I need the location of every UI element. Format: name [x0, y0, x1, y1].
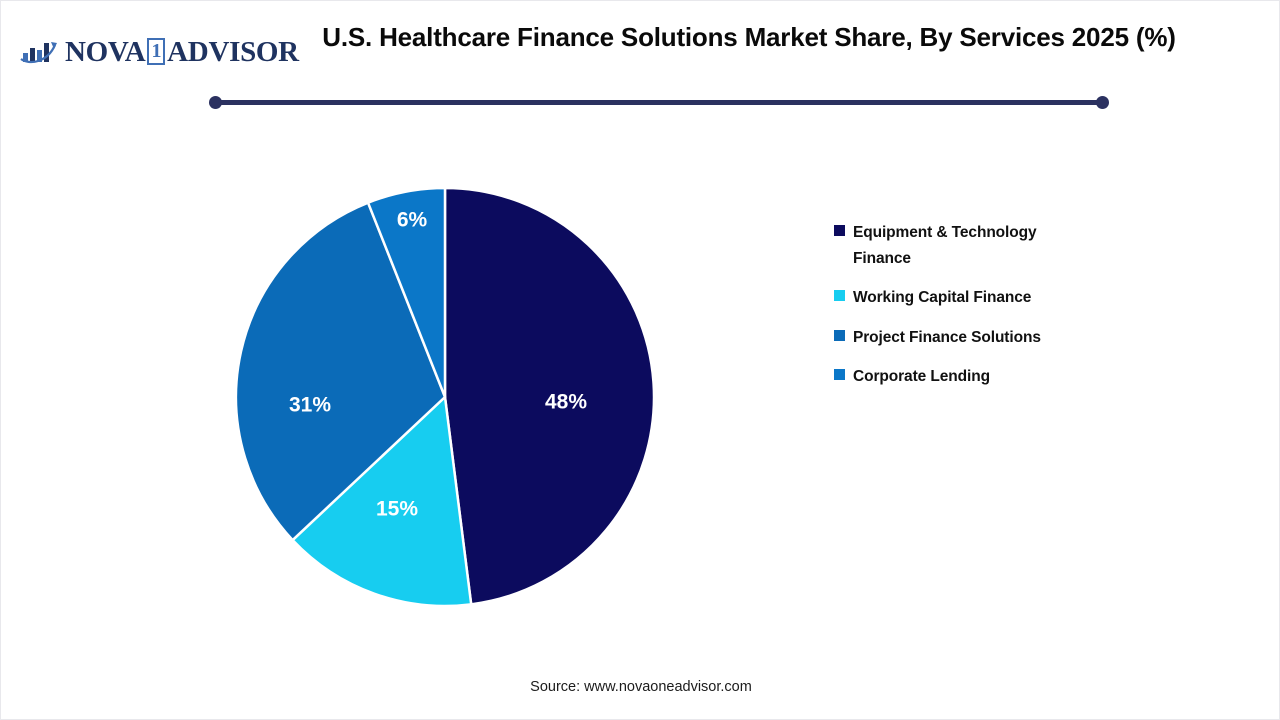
source-caption: Source: www.novaoneadvisor.com — [1, 679, 1280, 695]
chart-page: NOVA 1 ADVISOR U.S. Healthcare Finance S… — [0, 0, 1280, 720]
pie-chart-svg: 48%15%31%6% — [235, 187, 655, 607]
legend-item-label: Project Finance Solutions — [853, 325, 1041, 351]
logo-text-before: NOVA — [65, 36, 145, 69]
legend-swatch-icon — [834, 369, 845, 380]
chart-legend: Equipment & Technology Finance Working C… — [834, 220, 1094, 404]
brand-logo[interactable]: NOVA 1 ADVISOR — [19, 31, 299, 73]
brand-logo-text: NOVA 1 ADVISOR — [65, 36, 299, 69]
legend-item-label: Corporate Lending — [853, 364, 990, 390]
divider-dot-right — [1096, 96, 1109, 109]
bar-chart-swoosh-icon — [19, 37, 63, 67]
legend-swatch-icon — [834, 290, 845, 301]
pie-slice-label: 6% — [397, 209, 428, 232]
legend-item[interactable]: Project Finance Solutions — [834, 325, 1094, 351]
legend-swatch-icon — [834, 330, 845, 341]
title-divider — [209, 96, 1109, 110]
pie-slice-label: 15% — [376, 498, 418, 521]
pie-slice-label: 48% — [545, 391, 587, 414]
legend-item[interactable]: Corporate Lending — [834, 364, 1094, 390]
legend-swatch-icon — [834, 225, 845, 236]
pie-chart: 48%15%31%6% — [235, 187, 655, 607]
divider-bar — [214, 100, 1104, 105]
page-title: U.S. Healthcare Finance Solutions Market… — [269, 15, 1229, 60]
legend-item[interactable]: Equipment & Technology Finance — [834, 220, 1094, 271]
logo-number-badge: 1 — [147, 38, 165, 65]
legend-item-label: Working Capital Finance — [853, 285, 1031, 311]
legend-item[interactable]: Working Capital Finance — [834, 285, 1094, 311]
legend-item-label: Equipment & Technology Finance — [853, 220, 1094, 271]
pie-slice-label: 31% — [289, 394, 331, 417]
